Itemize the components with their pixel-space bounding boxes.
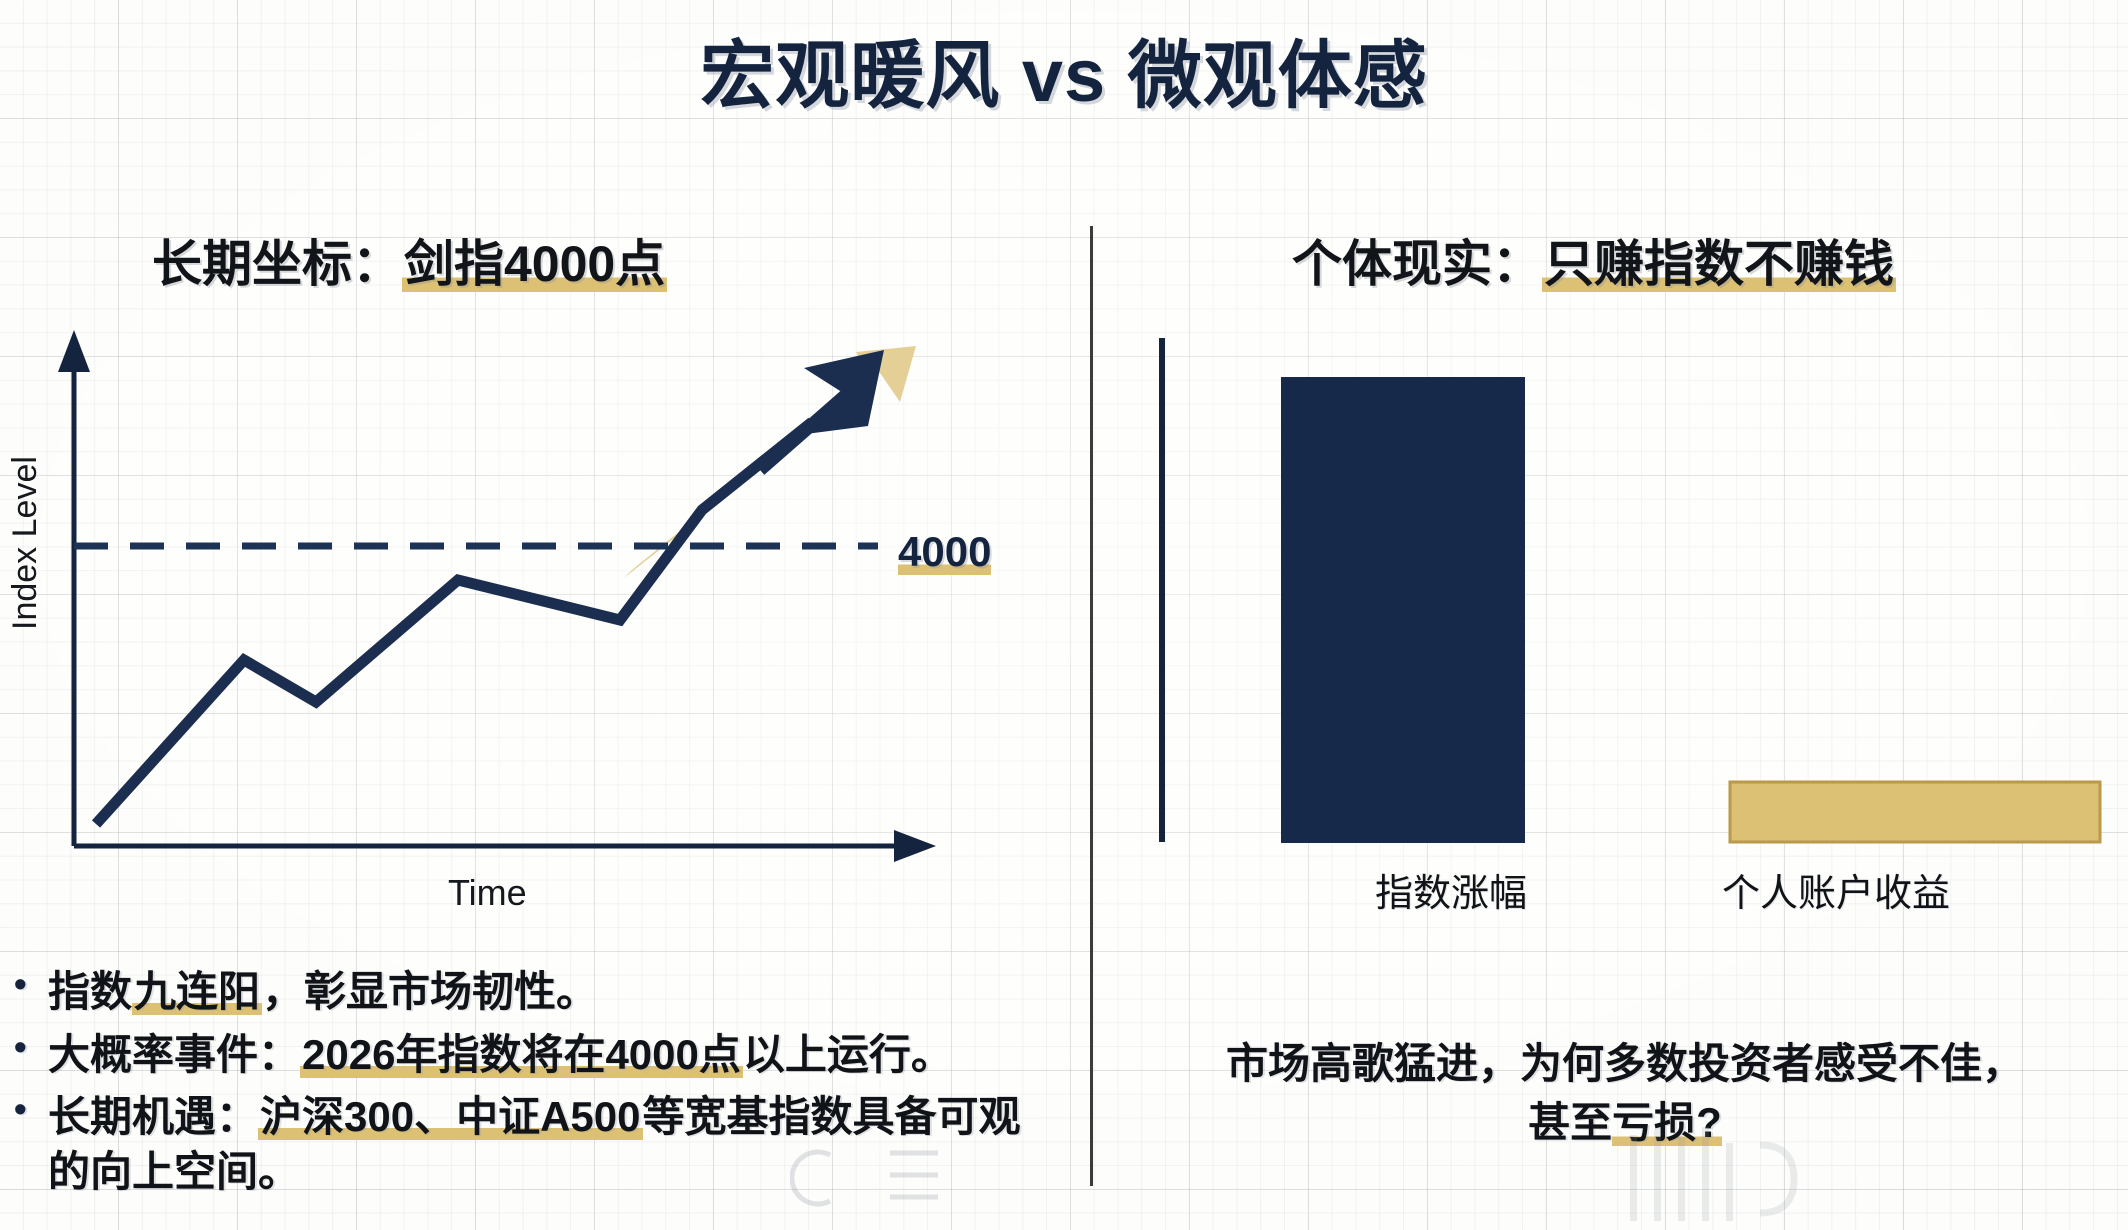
left-heading-plain: 长期坐标：: [152, 236, 402, 292]
caption-line2-plain: 甚至: [1528, 1099, 1612, 1146]
index-trend-line-chart: [0, 330, 1040, 930]
list-item: 长期机遇：沪深300、中证A500等宽基指数具备可观的向上空间。: [8, 1090, 1038, 1199]
right-heading-highlight: 只赚指数不赚钱: [1542, 236, 1896, 292]
bullet-highlight: 九连阳: [132, 968, 262, 1015]
bar-category-label-personal: 个人账户收益: [1722, 862, 1950, 917]
x-axis-label: Time: [448, 872, 527, 914]
bullet-text: 大概率事件：: [48, 1031, 300, 1078]
panel-divider: [1090, 226, 1093, 1186]
bar-category-label-index: 指数涨幅: [1375, 862, 1527, 917]
bullet-text-tail: 以上运行。: [743, 1031, 953, 1078]
left-heading-highlight: 剑指4000点: [402, 236, 667, 292]
bullet-highlight: 2026年指数将在4000点: [300, 1031, 743, 1078]
bullet-text-tail: ，彰显市场韧性。: [262, 968, 598, 1015]
bullet-text: 长期机遇：: [48, 1093, 258, 1140]
y-axis-label: Index Level: [6, 456, 45, 630]
threshold-value-label: 4000: [898, 528, 991, 576]
list-item: 大概率事件：2026年指数将在4000点以上运行。: [8, 1028, 1038, 1083]
x-axis: [74, 830, 936, 862]
bullet-text: 指数: [48, 968, 132, 1015]
bar-personal-account-return: [1730, 782, 2100, 842]
left-panel-heading: 长期坐标：剑指4000点: [152, 224, 667, 296]
right-panel-caption: 市场高歌猛进，为何多数投资者感受不佳， 甚至亏损?: [1150, 1035, 2100, 1153]
bar-index-gain: [1282, 378, 1524, 842]
bullet-highlight: 沪深300、中证A500: [258, 1093, 642, 1140]
caption-line-1: 市场高歌猛进，为何多数投资者感受不佳，: [1150, 1035, 2100, 1094]
caption-line-2: 甚至亏损?: [1150, 1094, 2100, 1153]
y-axis: [58, 330, 90, 846]
page-title: 宏观暖风 vs 微观体感: [0, 16, 2128, 123]
returns-comparison-bar-chart: [1130, 330, 2110, 930]
right-heading-plain: 个体现实：: [1292, 236, 1542, 292]
index-line-series: [96, 350, 884, 824]
right-panel-heading: 个体现实：只赚指数不赚钱: [1292, 224, 1896, 296]
left-bullet-list: 指数九连阳，彰显市场韧性。 大概率事件：2026年指数将在4000点以上运行。 …: [8, 965, 1038, 1207]
list-item: 指数九连阳，彰显市场韧性。: [8, 965, 1038, 1020]
caption-line2-highlight: 亏损?: [1612, 1099, 1722, 1146]
